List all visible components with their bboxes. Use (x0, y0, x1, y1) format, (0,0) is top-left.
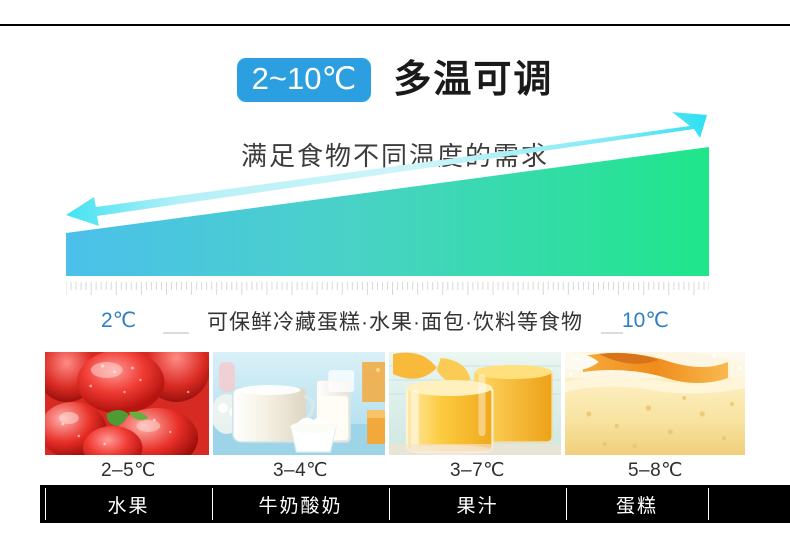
top-divider-rule (0, 24, 790, 26)
temperature-gradient-wedge (0, 84, 790, 276)
wedge-shape (66, 147, 709, 276)
food-name-cell: 牛奶酸奶 (212, 485, 389, 523)
namebar-edge-right (708, 485, 790, 523)
scale-max-label: 10℃ (622, 308, 669, 333)
temperature-ruler (66, 282, 709, 298)
caption-temperature: 3–7℃ (389, 458, 566, 482)
cheesecake-photo (565, 352, 745, 455)
temperature-caption-row: 2–5℃ 3–4℃ 3–7℃ 5–8℃ (45, 458, 745, 482)
legend-dash-right (601, 332, 623, 334)
scale-description: 可保鲜冷藏蛋糕·水果·面包·饮料等食物 (0, 306, 790, 336)
milk-yogurt-photo (213, 352, 385, 455)
food-name-cell: 果汁 (389, 485, 566, 523)
food-name-cell: 蛋糕 (566, 485, 708, 523)
food-name-cell: 水果 (45, 485, 212, 523)
infographic-panel: 2~10℃ 多温可调 满足食物不同温度的需求 (0, 0, 790, 540)
caption-temperature: 3–4℃ (212, 458, 389, 482)
orange-juice-photo (389, 352, 561, 455)
caption-temperature: 5–8℃ (566, 458, 745, 482)
scale-legend-row: 2℃ 可保鲜冷藏蛋糕·水果·面包·饮料等食物 10℃ (0, 306, 790, 340)
caption-temperature: 2–5℃ (45, 458, 212, 482)
fruit-tomatoes-photo (45, 352, 209, 455)
food-photo-strip (45, 352, 745, 455)
food-name-bar: 水果 牛奶酸奶 果汁 蛋糕 (40, 485, 790, 523)
